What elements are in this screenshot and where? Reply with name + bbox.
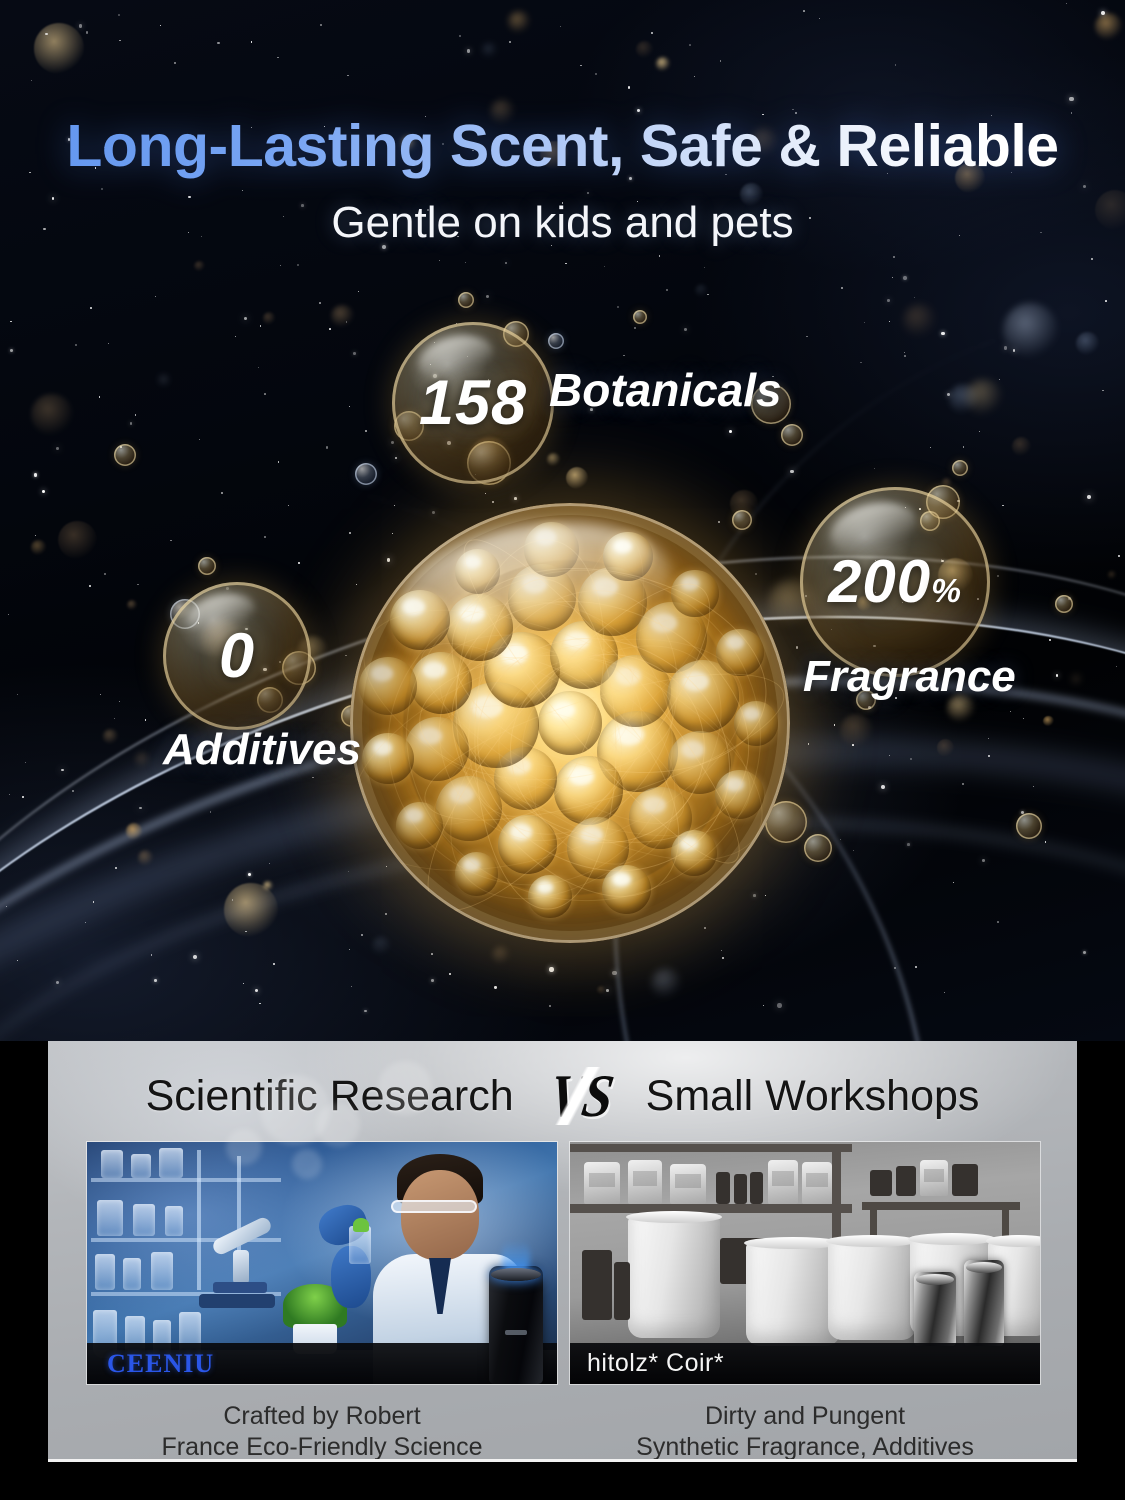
sparkle-dot xyxy=(617,306,619,308)
bokeh-circle xyxy=(965,379,1001,415)
sparkle-dot xyxy=(6,906,7,907)
device-top-cap xyxy=(491,1268,541,1281)
sparkle-dot xyxy=(997,575,999,577)
oil-droplet xyxy=(603,532,652,581)
sparkle-dot xyxy=(868,706,871,709)
small-workshop-buckets-photo: hitolz* Coir* xyxy=(569,1141,1041,1385)
floating-bubble xyxy=(458,292,474,308)
sparkle-dot xyxy=(297,264,299,266)
sparkle-dot xyxy=(288,505,289,506)
bokeh-circle xyxy=(34,23,84,73)
floating-bubble xyxy=(781,424,803,446)
sparkle-dot xyxy=(689,44,691,46)
sparkle-dot xyxy=(864,322,865,323)
comparison-heading: Scientific Research VS Small Workshops xyxy=(48,1055,1077,1137)
sparkle-dot xyxy=(348,871,349,872)
stat-label-additives: Additives xyxy=(163,728,361,772)
right-caption-line2: Synthetic Fragrance, Additives xyxy=(569,1432,1041,1463)
sparkle-dot xyxy=(1010,711,1011,712)
sparkle-dot xyxy=(1023,718,1024,719)
left-brand-bar: CEENIU xyxy=(87,1343,557,1384)
sparkle-dot xyxy=(25,762,26,763)
sparkle-dot xyxy=(361,934,363,936)
sparkle-dot xyxy=(298,562,300,564)
brand-label-hitolz-coir: hitolz* Coir* xyxy=(587,1349,724,1378)
sparkle-dot xyxy=(1004,346,1007,349)
vs-badge-icon: VS xyxy=(532,1063,628,1129)
sparkle-dot xyxy=(8,614,10,616)
sparkle-dot xyxy=(449,973,451,975)
sparkle-dot xyxy=(904,352,905,353)
sparkle-dot xyxy=(1002,505,1004,507)
bokeh-circle xyxy=(58,521,96,559)
oil-droplet xyxy=(524,522,579,577)
sparkle-dot xyxy=(718,521,720,523)
sparkle-dot xyxy=(881,785,885,789)
bokeh-circle xyxy=(263,881,273,891)
bokeh-circle xyxy=(103,729,118,744)
sparkle-dot xyxy=(1069,97,1073,101)
bokeh-circle xyxy=(31,394,73,436)
floating-bubble xyxy=(804,834,832,862)
sparkle-dot xyxy=(255,989,258,992)
device-logo xyxy=(505,1330,527,1335)
sparkle-dot xyxy=(115,867,117,869)
sparkle-dot xyxy=(721,950,722,951)
sparkle-dot xyxy=(100,694,101,695)
sparkle-dot xyxy=(944,992,945,993)
sparkle-dot xyxy=(155,296,157,298)
sparkle-dot xyxy=(273,963,274,964)
laboratory-scientist-photo: CEENIU xyxy=(86,1141,558,1385)
floating-bubble xyxy=(114,444,136,466)
sparkle-dot xyxy=(509,41,511,43)
sparkle-dot xyxy=(941,332,945,336)
sparkle-dot xyxy=(755,573,757,575)
sparkle-dot xyxy=(139,807,142,810)
sparkle-dot xyxy=(790,470,793,473)
sparkle-dot xyxy=(623,355,624,356)
sparkle-dot xyxy=(145,719,147,721)
sparkle-dot xyxy=(1116,666,1117,667)
floating-bubble xyxy=(198,557,216,575)
sparkle-dot xyxy=(120,446,122,448)
sparkle-dot xyxy=(17,960,18,961)
sparkle-dot xyxy=(763,1005,764,1006)
bokeh-circle xyxy=(840,714,873,747)
sparkle-dot xyxy=(85,922,86,923)
sparkle-dot xyxy=(248,873,251,876)
sparkle-dot xyxy=(604,266,605,267)
right-caption: Dirty and Pungent Synthetic Fragrance, A… xyxy=(569,1401,1041,1462)
sparkle-dot xyxy=(160,25,161,26)
sparkle-dot xyxy=(1068,597,1071,600)
sparkle-dot xyxy=(1101,11,1105,15)
bokeh-circle xyxy=(160,376,168,384)
sparkle-dot xyxy=(235,336,236,337)
sparkle-dot xyxy=(930,447,931,448)
sparkle-dot xyxy=(391,441,394,444)
sparkle-dot xyxy=(666,289,667,290)
sparkle-dot xyxy=(193,955,197,959)
sparkle-dot xyxy=(796,646,798,648)
sparkle-dot xyxy=(612,971,616,975)
sparkle-dot xyxy=(852,744,854,746)
sparkle-dot xyxy=(704,927,706,929)
sparkle-dot xyxy=(549,1005,551,1007)
bokeh-circle xyxy=(508,11,530,33)
sparkle-dot xyxy=(892,277,893,278)
sparkle-dot xyxy=(659,255,661,257)
sparkle-dot xyxy=(72,790,74,792)
left-caption: Crafted by Robert France Eco-Friendly Sc… xyxy=(86,1401,558,1462)
bokeh-circle xyxy=(135,752,150,767)
sparkle-dot xyxy=(358,291,359,292)
bokeh-circle xyxy=(194,261,205,272)
sparkle-dot xyxy=(505,262,508,265)
stat-bubble-fragrance: 200% xyxy=(800,487,990,677)
bokeh-circle xyxy=(1043,716,1053,726)
sparkle-dot xyxy=(277,57,279,59)
stat-value-additives: 0 xyxy=(219,625,255,688)
golden-essential-oil-sphere xyxy=(350,503,790,943)
sparkle-dot xyxy=(765,895,766,896)
ceeniu-diffuser-device xyxy=(489,1266,543,1384)
sparkle-dot xyxy=(365,430,367,432)
sparkle-dot xyxy=(953,882,954,883)
sparkle-dot xyxy=(90,307,92,309)
sparkle-dot xyxy=(356,584,357,585)
sparkle-dot xyxy=(694,76,695,77)
sparkle-dot xyxy=(853,850,854,851)
bokeh-circle xyxy=(482,43,497,58)
sparkle-dot xyxy=(914,297,915,298)
sparkle-dot xyxy=(1118,555,1120,557)
stat-bubble-botanicals: 158 xyxy=(392,322,554,484)
sparkle-dot xyxy=(514,497,517,500)
bokeh-circle xyxy=(651,968,681,998)
sparkle-dot xyxy=(259,1003,260,1004)
sparkle-dot xyxy=(217,42,219,44)
sparkle-dot xyxy=(9,794,10,795)
sparkle-dot xyxy=(431,953,433,955)
sparkle-dot xyxy=(242,190,243,191)
sparkle-dot xyxy=(349,406,350,407)
sparkle-dot xyxy=(834,724,836,726)
sparkle-dot xyxy=(347,75,349,77)
sparkle-dot xyxy=(349,949,350,950)
sparkle-dot xyxy=(988,755,990,757)
sparkle-dot xyxy=(467,49,471,53)
sparkle-dot xyxy=(319,302,321,304)
sparkle-dot xyxy=(874,468,875,469)
sparkle-dot xyxy=(251,41,253,43)
sparkle-dot xyxy=(803,10,805,12)
panel-bokeh-circle xyxy=(292,1149,322,1179)
bokeh-circle xyxy=(636,41,653,58)
sparkle-dot xyxy=(118,14,120,16)
bokeh-circle xyxy=(730,490,757,517)
sparkle-dot xyxy=(1105,300,1107,302)
sparkle-dot xyxy=(210,811,211,812)
sparkle-dot xyxy=(170,540,172,542)
sparkle-dot xyxy=(1083,185,1086,188)
floating-bubble xyxy=(732,510,752,530)
bokeh-circle xyxy=(942,478,951,487)
sparkle-dot xyxy=(1045,841,1047,843)
oil-droplet xyxy=(446,594,513,661)
sparkle-dot xyxy=(17,694,18,695)
sparkle-dot xyxy=(492,501,493,502)
sparkle-dot xyxy=(606,989,609,992)
floating-bubble xyxy=(355,463,377,485)
sparkle-dot xyxy=(1056,674,1059,677)
sparkle-dot xyxy=(61,769,64,772)
bokeh-circle xyxy=(492,946,510,964)
sparkle-dot xyxy=(243,983,244,984)
sparkle-dot xyxy=(962,783,964,785)
sparkle-dot xyxy=(386,866,388,868)
vs-label: VS xyxy=(544,1061,615,1130)
sparkle-dot xyxy=(999,379,1000,380)
sparkle-dot xyxy=(119,701,120,702)
sparkle-dot xyxy=(312,777,314,779)
sparkle-dot xyxy=(89,585,91,587)
sparkle-dot xyxy=(137,584,138,585)
sparkle-dot xyxy=(154,979,157,982)
sparkle-dot xyxy=(387,558,390,561)
sparkle-dot xyxy=(893,256,895,258)
sparkle-dot xyxy=(1033,786,1034,787)
sparkle-dot xyxy=(35,535,36,536)
sparkle-dot xyxy=(860,362,861,363)
sparkle-dot xyxy=(915,966,917,968)
sparkle-dot xyxy=(1102,390,1103,391)
left-caption-line2: France Eco-Friendly Science xyxy=(86,1432,558,1463)
sparkle-dot xyxy=(982,859,985,862)
panel-bokeh-circle xyxy=(378,1061,432,1115)
sparkle-dot xyxy=(729,430,732,433)
sparkle-dot xyxy=(1021,811,1024,814)
brand-label-ceeniu: CEENIU xyxy=(107,1349,214,1379)
sparkle-dot xyxy=(947,393,950,396)
sparkle-dot xyxy=(486,295,489,298)
right-brand-bar: hitolz* Coir* xyxy=(570,1343,1040,1384)
bokeh-circle xyxy=(138,850,154,866)
bokeh-circle xyxy=(1012,437,1031,456)
stat-label-botanicals: Botanicals xyxy=(549,367,782,413)
sparkle-dot xyxy=(957,500,959,502)
bokeh-circle xyxy=(31,540,46,555)
oil-droplet xyxy=(455,549,500,594)
sparkle-dot xyxy=(108,343,109,344)
bokeh-circle xyxy=(224,883,277,936)
sparkle-dot xyxy=(260,325,261,326)
sparkle-dot xyxy=(988,738,989,739)
sparkle-dot xyxy=(806,336,808,338)
sparkle-dot xyxy=(264,393,266,395)
bokeh-circle xyxy=(372,936,390,954)
sparkle-dot xyxy=(174,62,175,63)
stat-bubble-additives: 0 xyxy=(163,582,311,730)
sparkle-dot xyxy=(808,743,809,744)
sparkle-dot xyxy=(628,86,630,88)
stat-value-botanicals: 158 xyxy=(419,372,527,435)
page-subtitle: Gentle on kids and pets xyxy=(0,198,1125,248)
sparkle-dot xyxy=(346,321,348,323)
sparkle-dot xyxy=(704,267,705,268)
sparkle-dot xyxy=(329,328,331,330)
sparkle-dot xyxy=(963,446,964,447)
sparkle-dot xyxy=(494,986,496,988)
sparkle-dot xyxy=(707,294,708,295)
bokeh-circle xyxy=(597,986,606,995)
sparkle-dot xyxy=(269,863,270,864)
sparkle-dot xyxy=(135,414,137,416)
floating-bubble xyxy=(952,460,968,476)
sparkle-dot xyxy=(42,490,45,493)
bokeh-circle xyxy=(949,384,978,413)
sparkle-dot xyxy=(565,263,566,264)
hero-banner: Long-Lasting Scent, Safe & Reliable Gent… xyxy=(0,0,1125,1041)
sparkle-dot xyxy=(22,796,24,798)
sparkle-dot xyxy=(580,65,581,66)
bokeh-circle xyxy=(566,467,589,490)
sparkle-dot xyxy=(99,396,101,398)
sparkle-dot xyxy=(101,188,103,190)
sparkle-dot xyxy=(997,921,999,923)
sparkle-dot xyxy=(79,24,82,27)
sparkle-dot xyxy=(904,355,905,356)
sparkle-dot xyxy=(1049,639,1051,641)
bokeh-circle xyxy=(937,739,954,756)
sparkle-dot xyxy=(432,511,436,515)
sparkle-dot xyxy=(549,967,553,971)
sparkle-dot xyxy=(395,457,397,459)
sparkle-dot xyxy=(465,262,466,263)
sparkle-dot xyxy=(753,894,756,897)
sparkle-dot xyxy=(232,899,233,900)
panel-bokeh-circle xyxy=(316,1103,360,1147)
sparkle-dot xyxy=(151,954,152,955)
sparkle-dot xyxy=(889,321,890,322)
sparkle-dot xyxy=(278,461,280,463)
sparkle-dot xyxy=(684,328,687,331)
sparkle-dot xyxy=(792,109,794,111)
sparkle-dot xyxy=(459,35,461,37)
sparkle-dot xyxy=(840,839,841,840)
page-title: Long-Lasting Scent, Safe & Reliable xyxy=(0,112,1125,180)
stat-label-fragrance: Fragrance xyxy=(803,655,1016,699)
sparkle-dot xyxy=(722,957,724,959)
sparkle-dot xyxy=(1083,951,1086,954)
sparkle-dot xyxy=(907,843,910,846)
sparkle-dot xyxy=(280,265,281,266)
bokeh-circle xyxy=(547,453,560,466)
sparkle-dot xyxy=(326,446,328,448)
bokeh-circle xyxy=(1108,571,1116,579)
sparkle-dot xyxy=(75,344,77,346)
sparkle-dot xyxy=(34,473,37,476)
sparkle-dot xyxy=(45,33,48,36)
sparkle-dot xyxy=(889,755,891,757)
sparkle-dot xyxy=(587,192,589,194)
sparkle-dot xyxy=(903,276,907,280)
sparkle-dot xyxy=(130,422,133,425)
sparkle-dot xyxy=(351,986,352,987)
right-caption-line1: Dirty and Pungent xyxy=(705,1402,905,1430)
sparkle-dot xyxy=(56,447,59,450)
sparkle-dot xyxy=(887,299,890,302)
sparkle-dot xyxy=(651,32,653,34)
sparkle-dot xyxy=(1091,258,1093,260)
sparkle-dot xyxy=(264,536,266,538)
sparkle-dot xyxy=(364,1010,367,1013)
sparkle-dot xyxy=(10,349,13,352)
sparkle-dot xyxy=(841,287,843,289)
sparkle-dot xyxy=(894,967,896,969)
sparkle-dot xyxy=(114,718,115,719)
sparkle-dot xyxy=(394,505,395,506)
sparkle-dot xyxy=(10,321,11,322)
sparkle-dot xyxy=(560,26,561,27)
bokeh-circle xyxy=(1003,303,1058,358)
oil-droplet xyxy=(508,564,575,631)
floating-bubble xyxy=(1055,595,1073,613)
sparkle-dot xyxy=(258,367,259,368)
sparkle-dot xyxy=(199,439,200,440)
sparkle-dot xyxy=(385,913,387,915)
sparkle-dot xyxy=(720,60,721,61)
sparkle-dot xyxy=(244,317,247,320)
sparkle-dot xyxy=(93,901,95,903)
floating-bubble xyxy=(633,310,647,324)
sparkle-dot xyxy=(221,492,223,494)
bokeh-circle xyxy=(656,57,670,71)
bokeh-circle xyxy=(903,304,935,336)
floating-bubble xyxy=(548,333,564,349)
bokeh-circle xyxy=(263,312,275,324)
comparison-heading-right: Small Workshops xyxy=(646,1072,980,1121)
sparkle-dot xyxy=(31,80,32,81)
sparkle-dot xyxy=(119,40,121,42)
sparkle-dot xyxy=(819,18,820,19)
sparkle-dot xyxy=(345,655,347,657)
bokeh-circle xyxy=(1072,675,1081,684)
sparkle-dot xyxy=(895,64,896,65)
bokeh-circle xyxy=(695,284,708,297)
sparkle-dot xyxy=(245,931,246,932)
panel-bokeh-circle xyxy=(226,1129,262,1165)
floating-bubble xyxy=(1016,813,1042,839)
sparkle-dot xyxy=(979,431,980,432)
sparkle-dot xyxy=(56,981,59,984)
bokeh-circle xyxy=(127,600,137,610)
bokeh-circle xyxy=(126,823,143,840)
sparkle-dot xyxy=(392,533,393,534)
comparison-panel: Scientific Research VS Small Workshops xyxy=(48,1041,1077,1462)
sparkle-dot xyxy=(1066,3,1067,4)
sparkle-dot xyxy=(634,327,635,328)
sparkle-dot xyxy=(86,31,88,33)
sparkle-dot xyxy=(439,260,440,261)
sparkle-dot xyxy=(104,573,106,575)
sparkle-dot xyxy=(1013,349,1016,352)
stat-value-fragrance: 200% xyxy=(828,552,962,612)
sparkle-dot xyxy=(1087,495,1091,499)
bokeh-circle xyxy=(331,305,354,328)
sparkle-dot xyxy=(910,758,912,760)
